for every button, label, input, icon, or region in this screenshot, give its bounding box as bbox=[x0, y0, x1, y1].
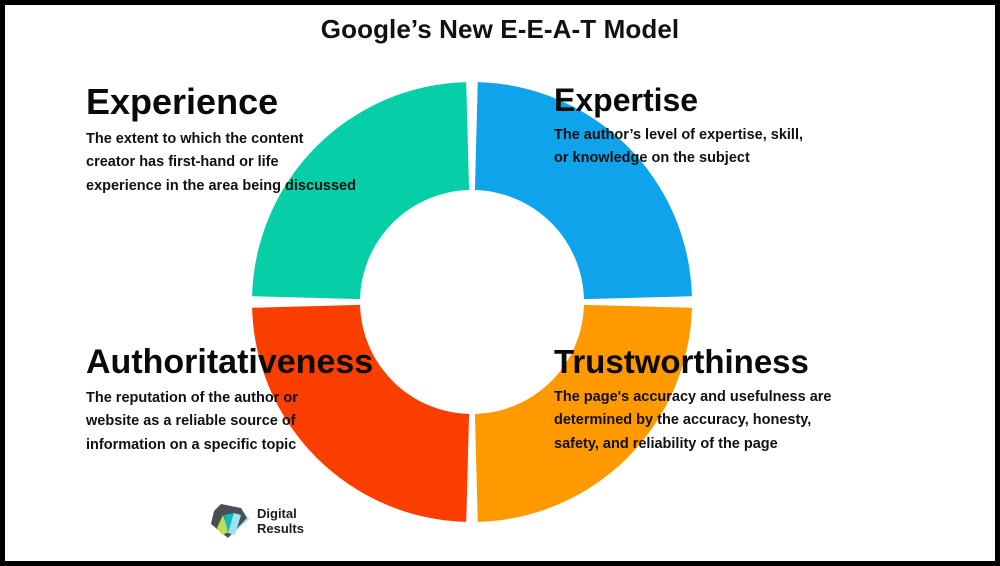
description-line-1: The author’s level of expertise, skill, bbox=[554, 124, 803, 147]
description-line-1: The extent to which the content bbox=[86, 128, 356, 151]
quadrant-authoritativeness: Authoritativeness The reputation of the … bbox=[86, 345, 373, 457]
description-line-2: creator has first-hand or life bbox=[86, 151, 356, 174]
quadrant-authoritativeness-title: Authoritativeness bbox=[86, 345, 373, 379]
quadrant-expertise: Expertise The author’s level of expertis… bbox=[554, 84, 803, 171]
description-line-3: safety, and reliability of the page bbox=[554, 433, 831, 456]
quadrant-expertise-title: Expertise bbox=[554, 84, 803, 116]
gem-diamond-icon bbox=[208, 502, 250, 542]
brand-logo: Digital Results bbox=[208, 502, 304, 542]
quadrant-trustworthiness-title: Trustworthiness bbox=[554, 345, 831, 378]
logo-line-1: Digital bbox=[257, 507, 304, 522]
quadrant-expertise-description: The author’s level of expertise, skill,o… bbox=[554, 124, 803, 171]
quadrant-trustworthiness-description: The page's accuracy and usefulness arede… bbox=[554, 386, 831, 456]
description-line-3: information on a specific topic bbox=[86, 434, 373, 457]
infographic-canvas: Google’s New E-E-A-T Model Experience Th… bbox=[0, 0, 1000, 566]
description-line-1: The page's accuracy and usefulness are bbox=[554, 386, 831, 409]
page-title: Google’s New E-E-A-T Model bbox=[0, 14, 1000, 45]
logo-line-2: Results bbox=[257, 522, 304, 537]
quadrant-trustworthiness: Trustworthiness The page's accuracy and … bbox=[554, 345, 831, 456]
description-line-3: experience in the area being discussed bbox=[86, 175, 356, 198]
description-line-1: The reputation of the author or bbox=[86, 387, 373, 410]
description-line-2: or knowledge on the subject bbox=[554, 147, 803, 170]
logo-wordmark: Digital Results bbox=[257, 507, 304, 536]
quadrant-experience-description: The extent to which the contentcreator h… bbox=[86, 128, 356, 198]
quadrant-experience-title: Experience bbox=[86, 84, 356, 120]
description-line-2: determined by the accuracy, honesty, bbox=[554, 409, 831, 432]
quadrant-experience: Experience The extent to which the conte… bbox=[86, 84, 356, 198]
description-line-2: website as a reliable source of bbox=[86, 410, 373, 433]
quadrant-authoritativeness-description: The reputation of the author orwebsite a… bbox=[86, 387, 373, 457]
